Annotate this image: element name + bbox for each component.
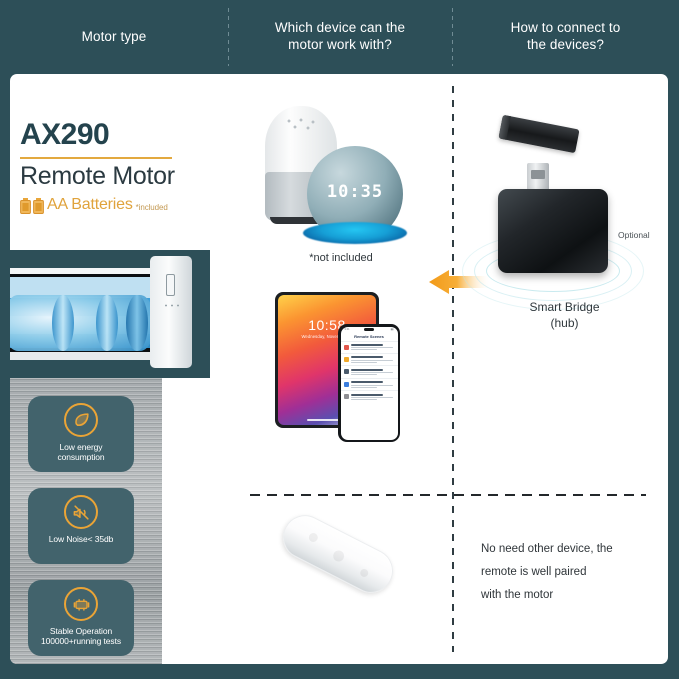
tablet-and-phone-image: 10:58 Wednesday, November 11 9:41▮▮ Remo… <box>275 292 435 452</box>
list-item-text <box>351 356 395 362</box>
pairing-note-line2: remote is well paired <box>481 561 661 584</box>
motor-indicator-dots <box>163 304 179 307</box>
list-item[interactable] <box>341 341 398 353</box>
pairing-note-line1: No need other device, the <box>481 538 661 561</box>
header-column-label: How to connect to the devices? <box>511 20 621 54</box>
list-item-text <box>351 369 395 375</box>
phone-notch <box>364 328 374 331</box>
motor-ring <box>126 295 148 351</box>
scene-icon <box>344 357 349 362</box>
phone-device: 9:41▮▮ Remote Scenes <box>338 324 400 442</box>
mute-speaker-icon <box>64 495 98 529</box>
list-item[interactable] <box>341 353 398 365</box>
quadrant-remote <box>229 496 452 664</box>
product-title-block: AX290 Remote Motor AA Batteries *include… <box>20 120 225 214</box>
smart-speakers-image: 10:35 <box>251 98 431 248</box>
list-item[interactable] <box>341 378 398 390</box>
echo-light-ring <box>303 222 407 244</box>
motor-gear-icon <box>64 587 98 621</box>
header-column-label: Motor type <box>82 29 147 46</box>
pairing-note: No need other device, the remote is well… <box>481 538 661 607</box>
battery-label: AA Batteries <box>47 196 133 214</box>
motor-ring <box>96 295 118 351</box>
quadrant-compatible-devices: 10:35 *not included 10:58 Wednesday, Nov… <box>229 74 452 494</box>
header-bar: Motor type Which device can the motor wo… <box>0 0 679 74</box>
list-item[interactable] <box>341 390 398 402</box>
remote-button <box>331 549 346 564</box>
leaf-icon <box>64 403 98 437</box>
motor-product-photo <box>10 250 210 378</box>
smart-bridge-caption: Smart Bridge (hub) <box>472 300 657 331</box>
battery-included-note: *included <box>136 203 168 212</box>
header-column-motor-type: Motor type <box>0 0 228 74</box>
feature-badge-label: Low energy consumption <box>57 442 104 463</box>
content-card: AX290 Remote Motor AA Batteries *include… <box>10 74 668 664</box>
speaker-clock-display: 10:35 <box>307 182 403 202</box>
list-item-text <box>351 394 395 400</box>
speaker-dots <box>285 118 319 130</box>
usb-cap <box>498 115 579 153</box>
remote-button <box>359 568 370 579</box>
feature-badge-stable-operation: Stable Operation 100000+running tests <box>28 580 134 656</box>
feature-badge-low-energy: Low energy consumption <box>28 396 134 472</box>
quadrant-note: No need other device, the remote is well… <box>454 496 668 664</box>
motor-ring <box>52 295 74 351</box>
product-panel: AX290 Remote Motor AA Batteries *include… <box>10 74 229 664</box>
smart-bridge-caption-line1: Smart Bridge <box>472 300 657 316</box>
remote-button <box>307 531 319 543</box>
header-column-how-to-connect: How to connect to the devices? <box>452 0 679 74</box>
product-name: Remote Motor <box>20 163 225 191</box>
motor-end-cap <box>150 256 192 368</box>
comparison-grid: 10:35 *not included 10:58 Wednesday, Nov… <box>229 74 668 664</box>
header-column-device-compat: Which device can the motor work with? <box>228 0 452 74</box>
motor-button-slot <box>166 274 175 296</box>
scene-icon <box>344 382 349 387</box>
smart-bridge-caption-line2: (hub) <box>472 316 657 332</box>
feature-badge-strip: Low energy consumption Low Noise< 35db <box>10 378 162 664</box>
header-column-label: Which device can the motor work with? <box>275 20 405 54</box>
battery-row: AA Batteries *included <box>20 196 225 214</box>
optional-label: Optional <box>618 230 650 240</box>
scene-icon <box>344 394 349 399</box>
list-item-text <box>351 344 395 350</box>
list-item[interactable] <box>341 365 398 377</box>
phone-app-title: Remote Scenes <box>341 333 398 341</box>
smart-bridge-body <box>498 189 608 273</box>
smart-bridge-image: Optional Smart Bridge (hub) <box>472 104 657 434</box>
list-item-text <box>351 381 395 387</box>
remote-image <box>259 514 419 644</box>
product-sku: AX290 <box>20 120 225 150</box>
feature-badge-low-noise: Low Noise< 35db <box>28 488 134 564</box>
phone-screen: 9:41▮▮ Remote Scenes <box>341 327 398 440</box>
quadrant-smart-bridge: Optional Smart Bridge (hub) <box>454 74 668 494</box>
title-rule <box>20 157 172 159</box>
scene-icon <box>344 369 349 374</box>
feature-badge-label: Stable Operation 100000+running tests <box>41 626 121 647</box>
pairing-note-line3: with the motor <box>481 584 661 607</box>
not-included-caption: *not included <box>251 252 431 264</box>
battery-icon <box>20 198 44 214</box>
feature-badge-label: Low Noise< 35db <box>49 534 113 544</box>
scene-icon <box>344 345 349 350</box>
remote-control-device <box>275 508 400 601</box>
